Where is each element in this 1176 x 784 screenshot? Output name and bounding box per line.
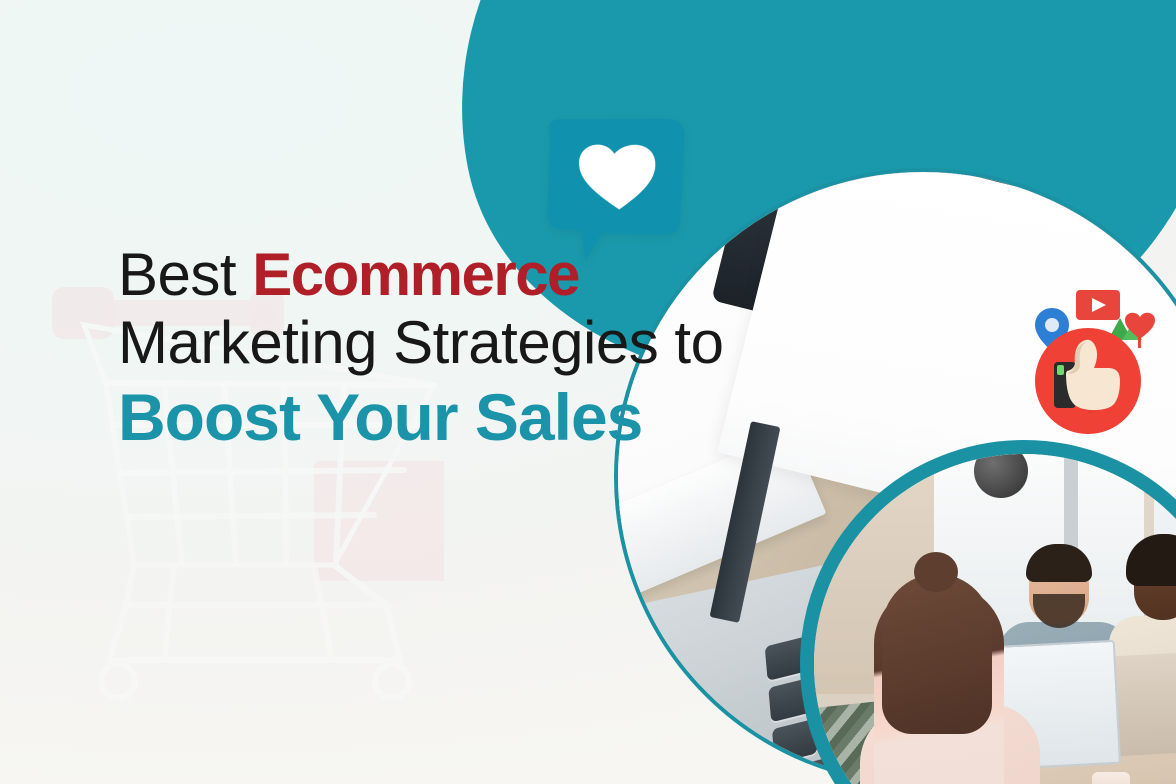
- headline-line-1-plain: Best: [118, 241, 252, 308]
- thumbs-up-social-badge: [1016, 284, 1166, 436]
- video-play-card-icon: [1076, 290, 1120, 320]
- headline-line-2: Marketing Strategies to: [118, 314, 758, 373]
- headline-line-1-accent: Ecommerce: [252, 241, 579, 308]
- headline-line-1: Best Ecommerce: [118, 246, 758, 305]
- marketing-banner: Best Ecommerce Marketing Strategies to B…: [0, 0, 1176, 784]
- office-team-meeting-photo: [800, 440, 1176, 784]
- headline-line-3: Boost Your Sales: [118, 385, 758, 450]
- headline-block: Best Ecommerce Marketing Strategies to B…: [118, 246, 758, 449]
